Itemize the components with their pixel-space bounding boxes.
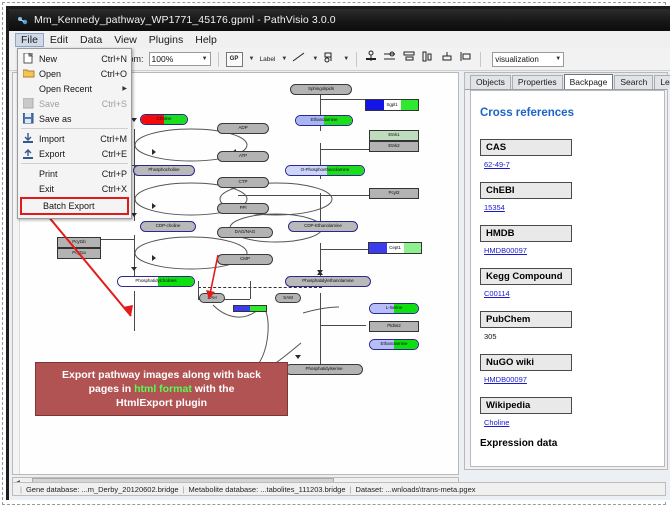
line-tool-icon[interactable] [292,50,306,68]
menu-separator-1 [21,128,128,129]
zoom-combobox[interactable]: 100% ▼ [149,52,211,66]
tab-objects[interactable]: Objects [470,75,511,89]
toolbar-separator-3 [480,52,481,67]
toolbar-separator [218,52,219,67]
menu-data[interactable]: Data [74,33,108,47]
screenshot-root: Mm_Kennedy_pathway_WP1771_45176.gpml - P… [0,0,670,509]
datanode-tool-icon[interactable]: GP [226,52,243,67]
window-title: Mm_Kennedy_pathway_WP1771_45176.gpml - P… [34,14,336,26]
callout-line1: Export pathway images along with back [62,369,261,381]
menu-item-print[interactable]: Print Ctrl+P [18,166,131,181]
xref-pubchem-value: 305 [484,332,655,341]
order-tool-icon[interactable] [383,50,397,68]
xref-cas: CAS 62-49-7 [480,137,655,169]
menu-item-import[interactable]: Import Ctrl+M [18,131,131,146]
menu-item-export[interactable]: Export Ctrl+E [18,146,131,161]
pathvisio-application-window: Mm_Kennedy_pathway_WP1771_45176.gpml - P… [6,6,670,500]
visualization-value: visualization [495,55,539,64]
tab-legend[interactable]: Legend [654,75,670,89]
group-tool-icon[interactable] [440,50,454,68]
statusbar-metabolite-db-label: Metabolite database: [189,485,259,494]
backpage-content: Cross references CAS 62-49-7 ChEBI 15354… [470,90,665,467]
interaction-tool-icon[interactable] [323,50,337,68]
toolbar-separator-2 [356,52,357,67]
annotation-callout: Export pathway images along with back pa… [35,362,288,416]
align-left-tool-icon[interactable] [459,50,473,68]
menu-item-open[interactable]: Open Ctrl+O [18,66,131,81]
open-folder-icon [22,68,35,80]
menu-item-save-as[interactable]: Save as [18,111,131,126]
align-stack-tool-icon[interactable] [402,50,416,68]
menu-help[interactable]: Help [189,33,223,47]
side-panel: Objects Properties Backpage Search Legen… [464,72,668,470]
menu-item-open-recent[interactable]: Open Recent ▶ [18,81,131,96]
label-tool-label[interactable]: Label [259,56,275,63]
export-icon [22,148,35,160]
xref-pubchem-label: PubChem [480,311,572,328]
expression-data-heading: Expression data [480,438,655,449]
anchor-tool-icon[interactable] [364,50,378,68]
xref-kegg: Kegg Compound C00114 [480,266,655,298]
datanode-chevron-down-icon[interactable]: ▼ [249,56,255,62]
xref-wikipedia-value[interactable]: Choline [484,418,655,427]
menu-item-save: Save Ctrl+S [18,96,131,111]
pathvisio-app-icon [17,15,28,26]
xref-hmdb-label: HMDB [480,225,572,242]
statusbar-dataset-label: Dataset: [355,485,383,494]
zoom-value: 100% [152,54,174,64]
callout-highlight: html format [134,383,192,395]
cross-references-title: Cross references [480,107,655,119]
xref-chebi: ChEBI 15354 [480,180,655,212]
statusbar: | Gene database: ...m_Derby_20120602.bri… [12,482,666,496]
window-titlebar: Mm_Kennedy_pathway_WP1771_45176.gpml - P… [9,9,670,31]
new-file-icon [22,53,35,65]
menu-plugins[interactable]: Plugins [143,33,189,47]
menu-edit[interactable]: Edit [44,33,74,47]
xref-kegg-value[interactable]: C00114 [484,289,655,298]
save-as-icon [22,113,35,125]
callout-line2-post: with the [192,383,235,395]
menubar: File Edit Data View Plugins Help [9,31,670,49]
chevron-down-icon: ▼ [202,56,208,62]
xref-kegg-label: Kegg Compound [480,268,572,285]
file-menu-dropdown[interactable]: New Ctrl+N Open Ctrl+O Open Recent ▶ Sav… [17,48,132,219]
tab-properties[interactable]: Properties [512,75,563,89]
print-icon [22,168,35,180]
visualization-chevron-down-icon: ▼ [555,56,561,62]
statusbar-metabolite-db-value: ...tabolites_111203.bridge [260,485,345,494]
xref-pubchem: PubChem 305 [480,309,655,341]
xref-wikipedia-label: Wikipedia [480,397,572,414]
statusbar-gene-db-label: Gene database: [26,485,79,494]
tab-search[interactable]: Search [614,75,653,89]
menu-item-new[interactable]: New Ctrl+N [18,51,131,66]
side-panel-tabstrip: Objects Properties Backpage Search Legen… [465,73,667,90]
xref-cas-label: CAS [480,139,572,156]
align-center-tool-icon[interactable] [421,50,435,68]
interaction-chevron-down-icon[interactable]: ▼ [343,56,349,62]
xref-wikipedia: Wikipedia Choline [480,395,655,427]
menu-view[interactable]: View [108,33,143,47]
callout-line3: HtmlExport plugin [116,397,207,409]
menu-item-batch-export[interactable]: Batch Export [20,197,129,215]
xref-hmdb-value[interactable]: HMDB00097 [484,246,655,255]
xref-chebi-value[interactable]: 15354 [484,203,655,212]
batch-export-icon [26,200,39,212]
xref-cas-value[interactable]: 62-49-7 [484,160,655,169]
exit-icon [22,183,35,195]
statusbar-dataset-value: ...wnloads\trans-meta.pgex [385,485,475,494]
xref-hmdb: HMDB HMDB00097 [480,223,655,255]
menu-separator-2 [21,163,128,164]
label-chevron-down-icon[interactable]: ▼ [281,56,287,62]
save-icon [22,98,35,110]
callout-line2-pre: pages in [89,383,135,395]
xref-nugo-value[interactable]: HMDB00097 [484,375,655,384]
xref-chebi-label: ChEBI [480,182,572,199]
xref-nugo: NuGO wiki HMDB00097 [480,352,655,384]
submenu-chevron-right-icon: ▶ [122,85,127,92]
menu-file[interactable]: File [15,33,44,47]
statusbar-gene-db-value: ...m_Derby_20120602.bridge [81,485,178,494]
line-chevron-down-icon[interactable]: ▼ [312,56,318,62]
tab-backpage[interactable]: Backpage [564,74,614,89]
open-recent-icon [22,83,35,95]
visualization-combobox[interactable]: visualization ▼ [492,52,564,67]
import-icon [22,133,35,145]
xref-nugo-label: NuGO wiki [480,354,572,371]
menu-item-exit[interactable]: Exit Ctrl+X [18,181,131,196]
